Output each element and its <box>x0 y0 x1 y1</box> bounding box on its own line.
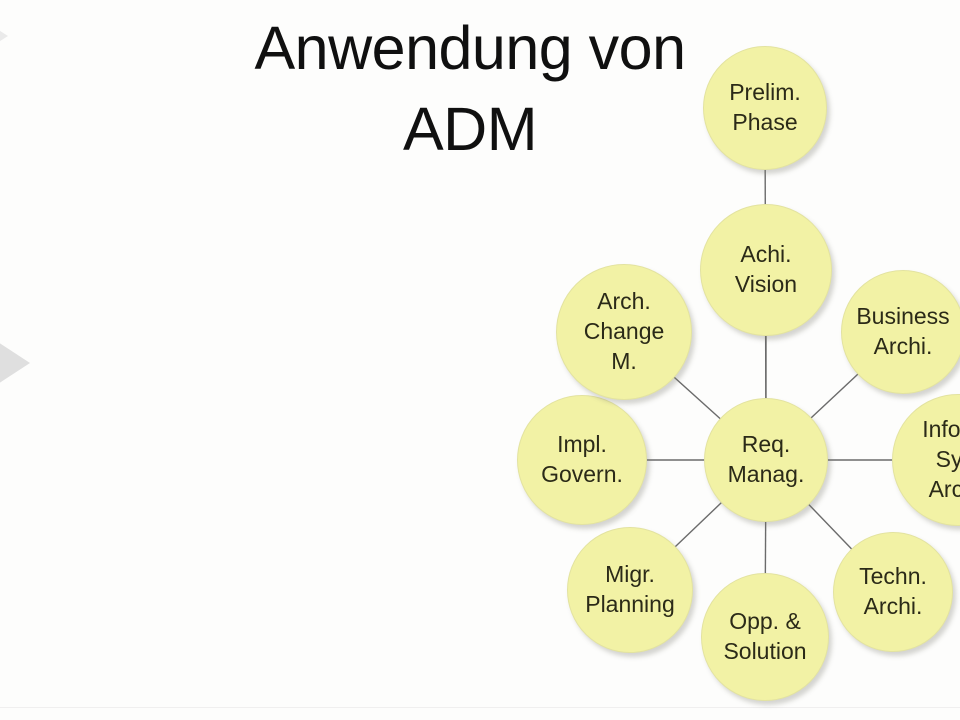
node-impl-govern[interactable]: Impl. Govern. <box>517 395 647 525</box>
node-label-inform-sys-archi: Inform. Sys. Archi. <box>918 415 960 505</box>
previous-slide-arrow-icon[interactable] <box>0 333 30 393</box>
node-label-req-manag: Req. Manag. <box>724 430 809 490</box>
node-label-migr-planning: Migr. Planning <box>581 560 679 620</box>
node-migr-planning[interactable]: Migr. Planning <box>567 527 693 653</box>
corner-arrow-icon[interactable] <box>0 22 8 50</box>
node-business-archi[interactable]: Business Archi. <box>841 270 960 394</box>
node-achi-vision[interactable]: Achi. Vision <box>700 204 832 336</box>
node-label-achi-vision: Achi. Vision <box>731 240 801 300</box>
node-label-arch-change-m: Arch. Change M. <box>580 287 669 377</box>
node-label-opp-solution: Opp. & Solution <box>719 607 810 667</box>
presentation-slide: Anwendung von ADM Prelim. PhaseAchi. Vis… <box>0 0 960 720</box>
node-opp-solution[interactable]: Opp. & Solution <box>701 573 829 701</box>
node-techn-archi[interactable]: Techn. Archi. <box>833 532 953 652</box>
node-inform-sys-archi[interactable]: Inform. Sys. Archi. <box>892 394 960 526</box>
node-label-techn-archi: Techn. Archi. <box>855 562 931 622</box>
node-req-manag[interactable]: Req. Manag. <box>704 398 828 522</box>
node-label-business-archi: Business Archi. <box>852 302 953 362</box>
node-label-impl-govern: Impl. Govern. <box>537 430 627 490</box>
node-arch-change-m[interactable]: Arch. Change M. <box>556 264 692 400</box>
page-title: Anwendung von ADM <box>150 8 790 169</box>
